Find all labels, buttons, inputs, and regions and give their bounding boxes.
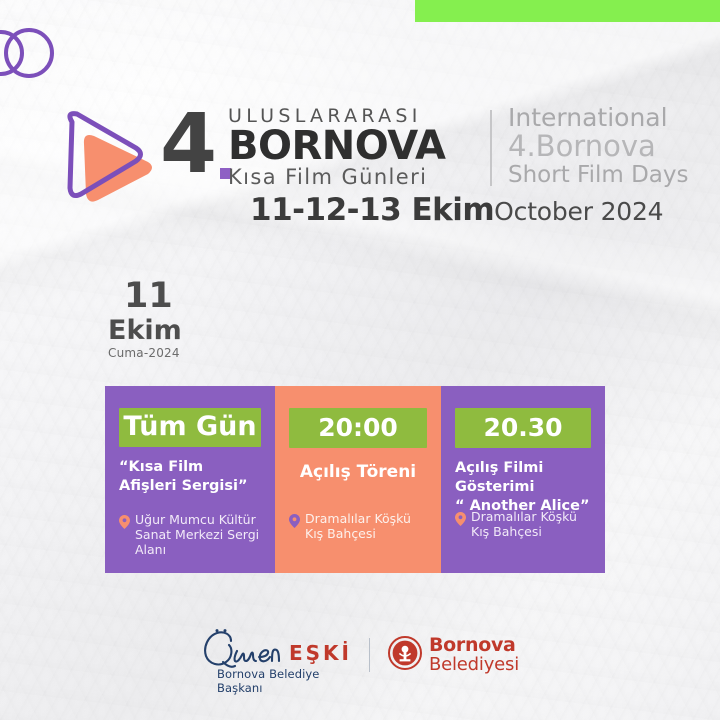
dates-english: October 2024	[494, 197, 663, 226]
card-venue: Dramalılar KöşküKış Bahçesi	[289, 511, 411, 541]
schedule-card[interactable]: 20:00 Açılış Töreni Dramalılar KöşküKış …	[275, 386, 441, 573]
schedule-card[interactable]: 20.30 Açılış FilmiGösterimi“ Another Ali…	[441, 386, 605, 573]
top-green-bar	[415, 0, 720, 22]
poster-footer: EŞKİ Bornova Belediye Başkanı Bornova Be…	[0, 620, 720, 690]
municipality-logo: Bornova Belediyesi	[388, 636, 519, 675]
municipality-emblem-icon	[388, 636, 422, 674]
festival-wordmark: 4 ULUSLARARASI BORNOVA Kısa Film Günleri…	[160, 108, 680, 190]
municipality-line1: Bornova	[429, 636, 519, 655]
location-pin-icon	[119, 514, 130, 533]
card-time-badge: 20:00	[289, 408, 427, 448]
mayor-signature-logo: EŞKİ Bornova Belediye Başkanı	[201, 627, 351, 683]
schedule-card[interactable]: Tüm Gün “Kısa FilmAfişleri Sergisi” Uğur…	[105, 386, 275, 573]
turkish-title-stack: ULUSLARARASI BORNOVA Kısa Film Günleri	[228, 106, 480, 189]
title-international: International	[508, 104, 720, 131]
festival-dates: 11-12-13 EkimOctober 2024	[250, 192, 663, 228]
title-divider	[490, 110, 492, 186]
day-number: 11	[108, 278, 182, 314]
day-block: 11 Ekim Cuma-2024	[108, 278, 182, 360]
title-short-film-days: Short Film Days	[508, 162, 720, 188]
poster-canvas: 4 ULUSLARARASI BORNOVA Kısa Film Günleri…	[0, 0, 720, 720]
location-pin-icon	[289, 513, 300, 532]
card-venue: Dramalılar KöşküKış Bahçesi	[455, 509, 577, 539]
card-venue-text: Dramalılar KöşküKış Bahçesi	[471, 509, 577, 539]
card-title: “Kısa FilmAfişleri Sergisi”	[119, 458, 261, 496]
municipality-name: Bornova Belediyesi	[429, 636, 519, 675]
location-pin-icon	[455, 511, 466, 530]
title-4-bornova: 4.Bornova	[508, 131, 720, 162]
footer-divider	[369, 638, 370, 672]
day-month: Ekim	[108, 316, 182, 345]
title-bornova: BORNOVA	[228, 127, 480, 165]
circle-ring-icon	[4, 28, 54, 78]
play-triangle-logo-icon	[52, 104, 164, 208]
card-venue-text: Uğur Mumcu KültürSanat Merkezi SergiAlan…	[135, 512, 259, 557]
card-title: Açılış FilmiGösterimi“ Another Alice”	[455, 459, 591, 516]
day-weekday-year: Cuma-2024	[108, 346, 182, 360]
municipality-line2: Belediyesi	[429, 655, 519, 675]
edition-number: 4	[160, 106, 214, 184]
card-time-badge: 20.30	[455, 408, 591, 448]
card-time-badge: Tüm Gün	[119, 408, 261, 447]
card-venue-text: Dramalılar KöşküKış Bahçesi	[305, 511, 411, 541]
card-title: Açılış Töreni	[289, 461, 427, 483]
card-venue: Uğur Mumcu KültürSanat Merkezi SergiAlan…	[119, 512, 259, 557]
english-title-stack: International 4.Bornova Short Film Days	[508, 104, 720, 188]
mayor-title: Bornova Belediye Başkanı	[217, 667, 351, 695]
schedule-card-row: Tüm Gün “Kısa FilmAfişleri Sergisi” Uğur…	[105, 386, 605, 573]
dates-turkish: 11-12-13 Ekim	[250, 192, 494, 228]
mayor-surname: EŞKİ	[289, 641, 352, 665]
